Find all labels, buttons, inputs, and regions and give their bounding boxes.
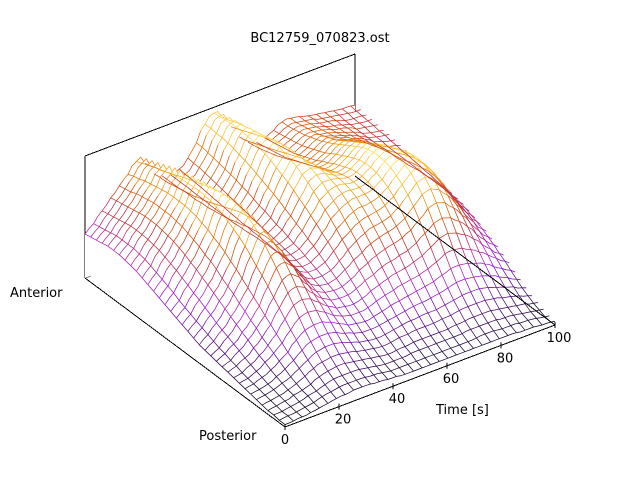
page-title: BC12759_070823.ost xyxy=(250,31,389,46)
tick-label-time: 60 xyxy=(443,372,460,387)
surface-plot-figure: BC12759_070823.ost 020406080100 Anterior… xyxy=(0,0,640,480)
axis-label-posterior: Posterior xyxy=(199,429,257,444)
axis-label-anterior: Anterior xyxy=(10,286,63,301)
tick-label-time: 40 xyxy=(389,392,406,407)
axis-label-time: Time [s] xyxy=(435,403,489,418)
tick-label-time: 0 xyxy=(281,433,289,448)
tick-label-time: 20 xyxy=(335,413,352,428)
tick-label-time: 80 xyxy=(497,351,514,366)
tick-label-time: 100 xyxy=(547,331,572,346)
